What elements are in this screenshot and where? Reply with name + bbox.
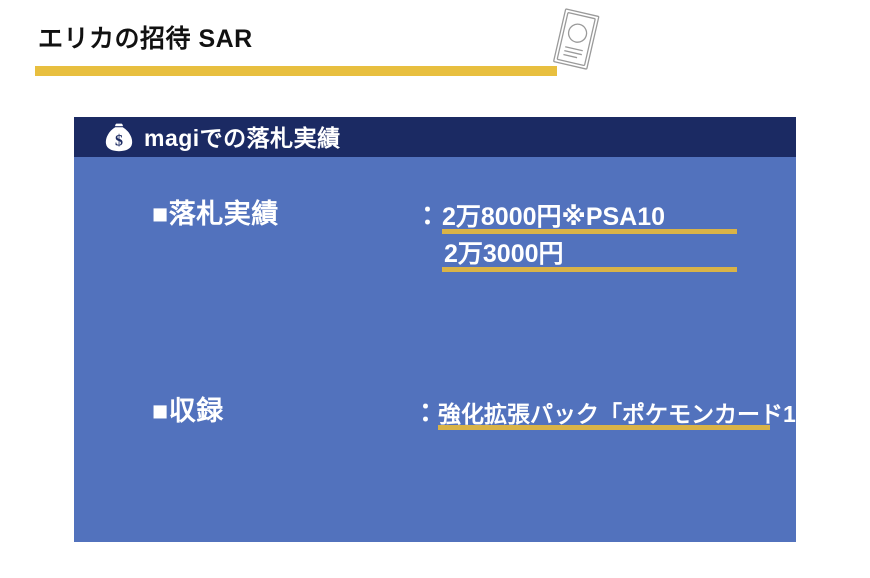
set-value: 強化拡張パック「ポケモンカード151 xyxy=(438,395,821,429)
auction-result-underline-2 xyxy=(442,267,737,272)
title-underline-rule xyxy=(35,66,557,76)
auction-result-value-1: 2万8000円※PSA10 xyxy=(442,197,665,233)
row-label-set: ■収録 xyxy=(152,389,224,428)
panel-header-title: magiでの落札実績 xyxy=(144,127,341,150)
trading-card-icon xyxy=(548,4,604,76)
auction-info-panel: $ magiでの落札実績 ■落札実績 ： 2万8000円※PSA10 2万300… xyxy=(74,117,796,542)
svg-text:$: $ xyxy=(115,133,123,150)
row-label-auction-results: ■落札実績 xyxy=(152,192,279,231)
money-bag-icon: $ xyxy=(102,121,136,153)
panel-header: $ magiでの落札実績 xyxy=(74,117,796,157)
set-value-underline xyxy=(438,425,770,430)
page-title: エリカの招待 SAR xyxy=(38,19,253,55)
auction-result-value-2: 2万3000円 xyxy=(444,234,564,270)
